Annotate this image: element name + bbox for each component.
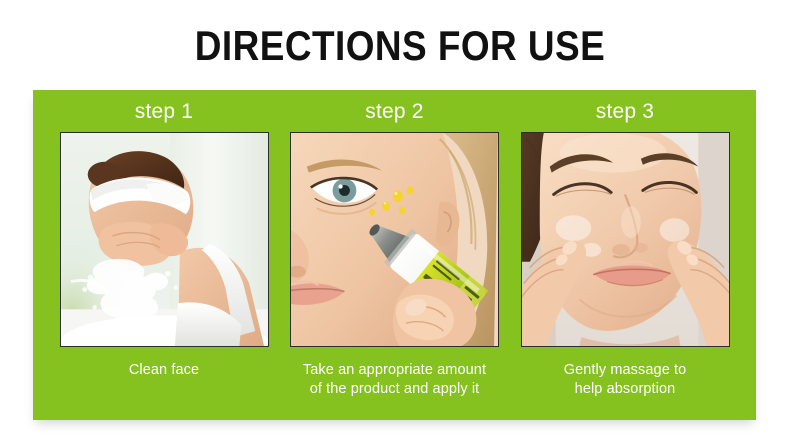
caption-line: Gently massage to	[564, 361, 687, 380]
steps-panel: step 1	[33, 90, 756, 420]
step-column-1: step 1	[57, 90, 271, 420]
caption-line: Take an appropriate amount	[303, 361, 486, 380]
step-image-1	[60, 132, 269, 347]
step-caption-3: Gently massage to help absorption	[564, 361, 687, 399]
step-image-3	[521, 132, 730, 347]
caption-line: help absorption	[564, 380, 687, 399]
caption-line: of the product and apply it	[303, 380, 486, 399]
step-label-2: step 2	[365, 99, 423, 125]
caption-line: Clean face	[129, 361, 199, 380]
step-label-1: step 1	[135, 99, 193, 125]
step-label-3: step 3	[596, 99, 654, 125]
woman-washing-face-photo	[61, 133, 268, 346]
step-caption-1: Clean face	[129, 361, 199, 380]
page-title: DIRECTIONS FOR USE	[48, 22, 752, 70]
step-column-2: step 2	[288, 90, 502, 420]
step-caption-2: Take an appropriate amount of the produc…	[303, 361, 486, 399]
applying-product-photo	[291, 133, 498, 346]
step-image-2	[290, 132, 499, 347]
step-column-3: step 3	[518, 90, 732, 420]
massaging-face-photo	[522, 133, 729, 346]
